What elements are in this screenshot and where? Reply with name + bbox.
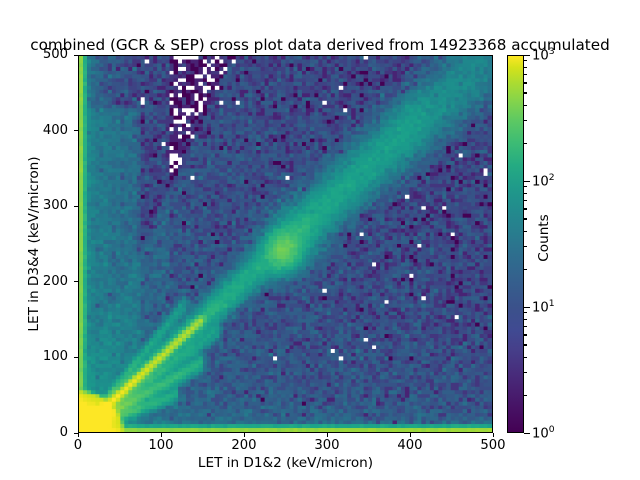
colorbar-tick-mark: [524, 433, 530, 434]
y-axis-label: LET in D3&4 (keV/micron): [26, 94, 42, 394]
colorbar-minor-tick: [524, 326, 527, 327]
colorbar-minor-tick: [524, 218, 527, 219]
colorbar: [507, 55, 524, 433]
plot-axes: [78, 55, 493, 433]
x-tick-label: 500: [463, 438, 523, 453]
colorbar-minor-tick: [524, 344, 527, 345]
x-tick-mark: [244, 433, 245, 437]
colorbar-minor-tick: [524, 193, 527, 194]
colorbar-minor-tick: [524, 312, 527, 313]
x-tick-label: 100: [131, 438, 191, 453]
colorbar-minor-tick: [524, 208, 527, 209]
x-tick-label: 200: [214, 438, 274, 453]
y-tick-label: 500: [8, 47, 68, 62]
colorbar-minor-tick: [524, 120, 527, 121]
colorbar-minor-tick: [524, 143, 527, 144]
x-tick-label: 300: [297, 438, 357, 453]
colorbar-tick-mark: [524, 307, 530, 308]
colorbar-minor-tick: [524, 395, 527, 396]
colorbar-minor-tick: [524, 319, 527, 320]
matplotlib-figure: combined (GCR & SEP) cross plot data der…: [0, 0, 640, 480]
colorbar-minor-tick: [524, 74, 527, 75]
colorbar-minor-tick: [524, 246, 527, 247]
colorbar-label: Counts: [536, 168, 552, 308]
colorbar-minor-tick: [524, 269, 527, 270]
colorbar-tick-label: 103: [532, 46, 555, 63]
x-tick-mark: [493, 433, 494, 437]
colorbar-minor-tick: [524, 186, 527, 187]
colorbar-tick-mark: [524, 55, 530, 56]
y-tick-mark: [74, 55, 78, 56]
y-tick-mark: [74, 130, 78, 131]
x-tick-label: 400: [380, 438, 440, 453]
colorbar-minor-tick: [524, 105, 527, 106]
x-axis-label: LET in D1&2 (keV/micron): [78, 455, 493, 471]
colorbar-minor-tick: [524, 67, 527, 68]
colorbar-minor-tick: [524, 200, 527, 201]
colorbar-tick-mark: [524, 181, 530, 182]
y-tick-mark: [74, 281, 78, 282]
colorbar-minor-tick: [524, 92, 527, 93]
x-tick-mark: [161, 433, 162, 437]
x-tick-mark: [327, 433, 328, 437]
colorbar-minor-tick: [524, 82, 527, 83]
colorbar-minor-tick: [524, 334, 527, 335]
y-tick-label: 0: [8, 425, 68, 440]
y-tick-mark: [74, 206, 78, 207]
colorbar-minor-tick: [524, 372, 527, 373]
colorbar-minor-tick: [524, 357, 527, 358]
y-tick-mark: [74, 433, 78, 434]
colorbar-minor-tick: [524, 231, 527, 232]
y-tick-mark: [74, 357, 78, 358]
x-tick-mark: [410, 433, 411, 437]
colorbar-tick-label: 100: [532, 424, 555, 441]
scatter-heatmap-canvas: [79, 56, 492, 432]
colorbar-minor-tick: [524, 60, 527, 61]
